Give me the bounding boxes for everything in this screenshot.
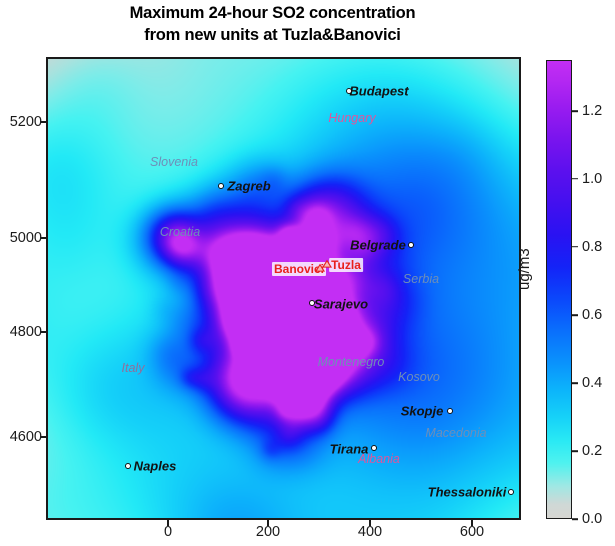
chart-title-line1: Maximum 24-hour SO2 concentration [0, 2, 545, 24]
y-tick-label-5000: 5000 [0, 230, 42, 246]
city-marker-sarajevo [309, 300, 315, 306]
city-marker-thessaloniki [508, 489, 514, 495]
x-tick-label-200: 200 [238, 524, 298, 540]
chart-title: Maximum 24-hour SO2 concentration from n… [0, 2, 545, 46]
y-tick-label-4600: 4600 [0, 429, 42, 445]
x-tick-mark-0 [167, 520, 169, 526]
map-plot-panel[interactable]: HungarySloveniaCroatiaSerbiaMontenegroKo… [46, 57, 521, 520]
x-tick-mark-600 [471, 520, 473, 526]
colorbar-axis-label: ug/m3 [516, 248, 533, 290]
y-tick-label-5200: 5200 [0, 114, 42, 130]
source-label-tuzla: Tuzla [329, 258, 363, 272]
colorbar-tick-mark-0.6 [572, 314, 578, 316]
colorbar-gradient [546, 60, 572, 519]
colorbar-tick-label-1.2: 1.2 [582, 103, 602, 119]
colorbar-tick-mark-1.0 [572, 178, 578, 180]
city-marker-belgrade [408, 242, 414, 248]
city-label-naples: Naples [134, 459, 177, 474]
colorbar-tick-label-0.6: 0.6 [582, 307, 602, 323]
city-label-tirana: Tirana [330, 442, 369, 457]
country-label-slovenia: Slovenia [150, 155, 198, 169]
colorbar-tick-label-1.0: 1.0 [582, 171, 602, 187]
city-label-thessaloniki: Thessaloniki [428, 485, 507, 500]
chart-title-line2: from new units at Tuzla&Banovici [0, 24, 545, 46]
colorbar-tick-mark-0.2 [572, 450, 578, 452]
colorbar-tick-mark-0.8 [572, 246, 578, 248]
country-label-hungary: Hungary [328, 111, 375, 125]
country-label-montenegro: Montenegro [318, 355, 385, 369]
colorbar-tick-label-0.4: 0.4 [582, 375, 602, 391]
city-label-zagreb: Zagreb [227, 179, 270, 194]
x-tick-mark-400 [369, 520, 371, 526]
country-label-kosovo: Kosovo [398, 370, 440, 384]
city-label-belgrade: Belgrade [350, 238, 406, 253]
city-marker-naples [125, 463, 131, 469]
concentration-field [48, 59, 519, 518]
x-tick-label-0: 0 [138, 524, 198, 540]
city-label-budapest: Budapest [349, 84, 408, 99]
country-label-serbia: Serbia [403, 272, 439, 286]
country-label-italy: Italy [122, 361, 145, 375]
colorbar-tick-mark-0.4 [572, 382, 578, 384]
source-marker-inner [324, 262, 330, 267]
city-marker-skopje [447, 408, 453, 414]
x-tick-mark-200 [267, 520, 269, 526]
city-marker-tirana [371, 445, 377, 451]
city-label-sarajevo: Sarajevo [314, 297, 368, 312]
city-marker-zagreb [218, 183, 224, 189]
y-tick-label-4800: 4800 [0, 324, 42, 340]
colorbar-tick-label-0.2: 0.2 [582, 443, 602, 459]
country-label-macedonia: Macedonia [425, 426, 486, 440]
city-marker-budapest [346, 88, 352, 94]
figure-root: Maximum 24-hour SO2 concentration from n… [0, 0, 615, 546]
colorbar-tick-label-0.0: 0.0 [582, 511, 602, 527]
city-label-skopje: Skopje [401, 404, 444, 419]
colorbar-tick-mark-0.0 [572, 518, 578, 520]
x-tick-label-400: 400 [340, 524, 400, 540]
source-marker-tuzla-triangle-icon [322, 260, 332, 268]
colorbar-tick-mark-1.2 [572, 110, 578, 112]
colorbar-group: 1.21.00.80.60.40.20.0 [546, 60, 572, 519]
x-tick-label-600: 600 [442, 524, 502, 540]
country-label-croatia: Croatia [160, 225, 200, 239]
colorbar-tick-label-0.8: 0.8 [582, 239, 602, 255]
